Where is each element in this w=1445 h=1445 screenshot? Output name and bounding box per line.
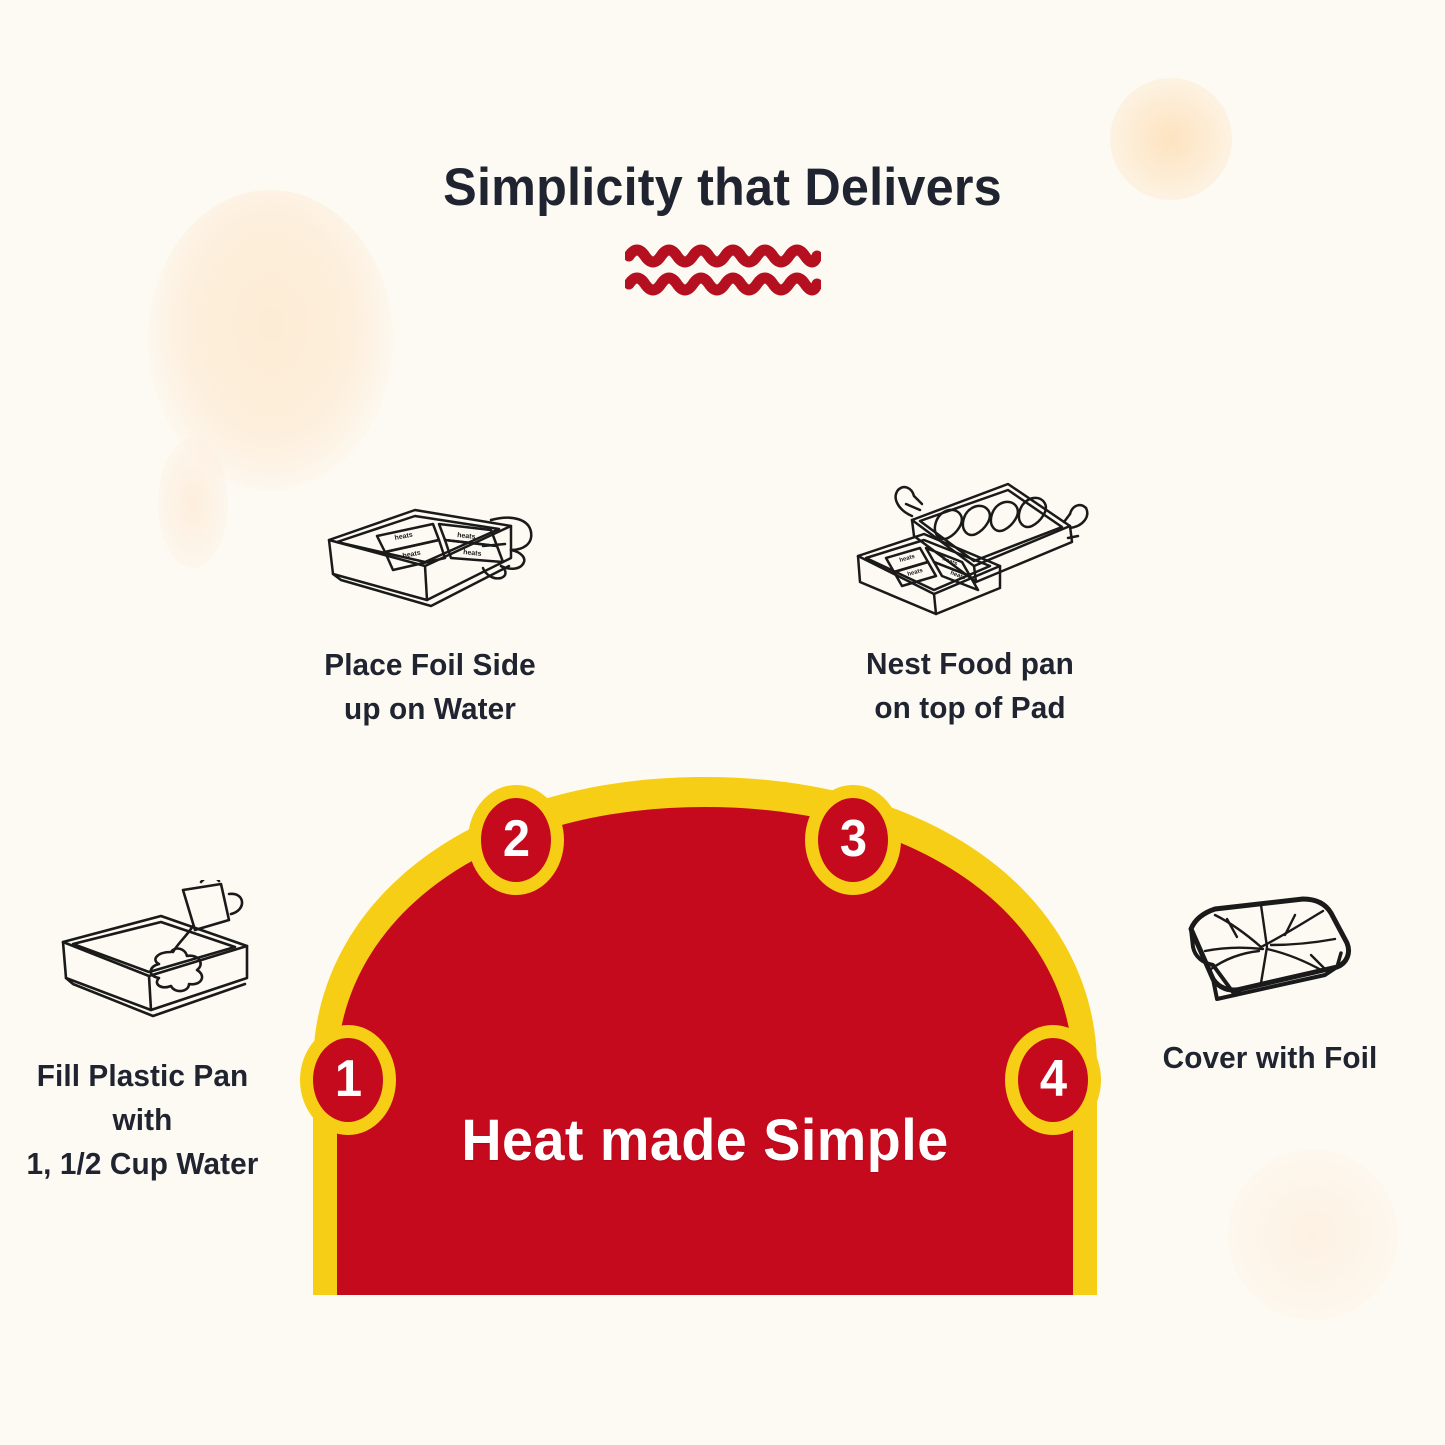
background-blob-small-left [158, 438, 228, 568]
title-block: Simplicity that Delivers [0, 160, 1445, 298]
svg-text:heats: heats [907, 568, 924, 578]
step-number-2: 2 [502, 813, 529, 865]
arch-fill-red [337, 807, 1073, 1295]
step-node-1[interactable]: 1 [300, 1025, 396, 1135]
center-arch-graphic: Heat made Simple [275, 755, 1135, 1295]
step-node-3[interactable]: 3 [805, 785, 901, 895]
step-node-4[interactable]: 4 [1005, 1025, 1101, 1135]
step-card-1: Fill Plastic Pan with 1, 1/2 Cup Water [0, 880, 285, 1186]
infographic-canvas: Simplicity that Delivers Heat made Simpl… [0, 0, 1445, 1445]
svg-text:heats: heats [457, 532, 476, 541]
svg-text:heats: heats [899, 554, 916, 564]
step-number-1: 1 [334, 1053, 361, 1105]
step-label-3: Nest Food pan on top of Pad [845, 642, 1095, 730]
background-blob-bottom-right [1228, 1150, 1398, 1320]
step-label-2: Place Foil Side up on Water [296, 643, 565, 731]
step-card-2: heats heats heats heats Place Foil Side … [290, 492, 570, 731]
step-label-1: Fill Plastic Pan with 1, 1/2 Cup Water [6, 1054, 280, 1186]
step-card-3: heats heats heats heats Nest Food pan on… [840, 478, 1100, 730]
pouring-water-into-pan-icon [33, 880, 253, 1040]
step-label-4: Cover with Foil [1136, 1036, 1405, 1080]
nesting-food-pan-on-pad-icon: heats heats heats heats [850, 478, 1090, 628]
arch-shape [275, 755, 1135, 1295]
red-wavy-divider-icon [625, 242, 821, 298]
step-card-4: Cover with Foil [1130, 895, 1410, 1080]
step-number-4: 4 [1039, 1053, 1066, 1105]
center-caption: Heat made Simple [292, 1107, 1118, 1174]
svg-text:heats: heats [394, 532, 413, 542]
step-number-3: 3 [839, 813, 866, 865]
foil-covered-pan-icon [1175, 895, 1365, 1010]
step-node-2[interactable]: 2 [468, 785, 564, 895]
hand-placing-foil-pads-in-pan-icon: heats heats heats heats [315, 492, 545, 627]
svg-text:heats: heats [463, 549, 482, 558]
page-title: Simplicity that Delivers [36, 160, 1409, 216]
